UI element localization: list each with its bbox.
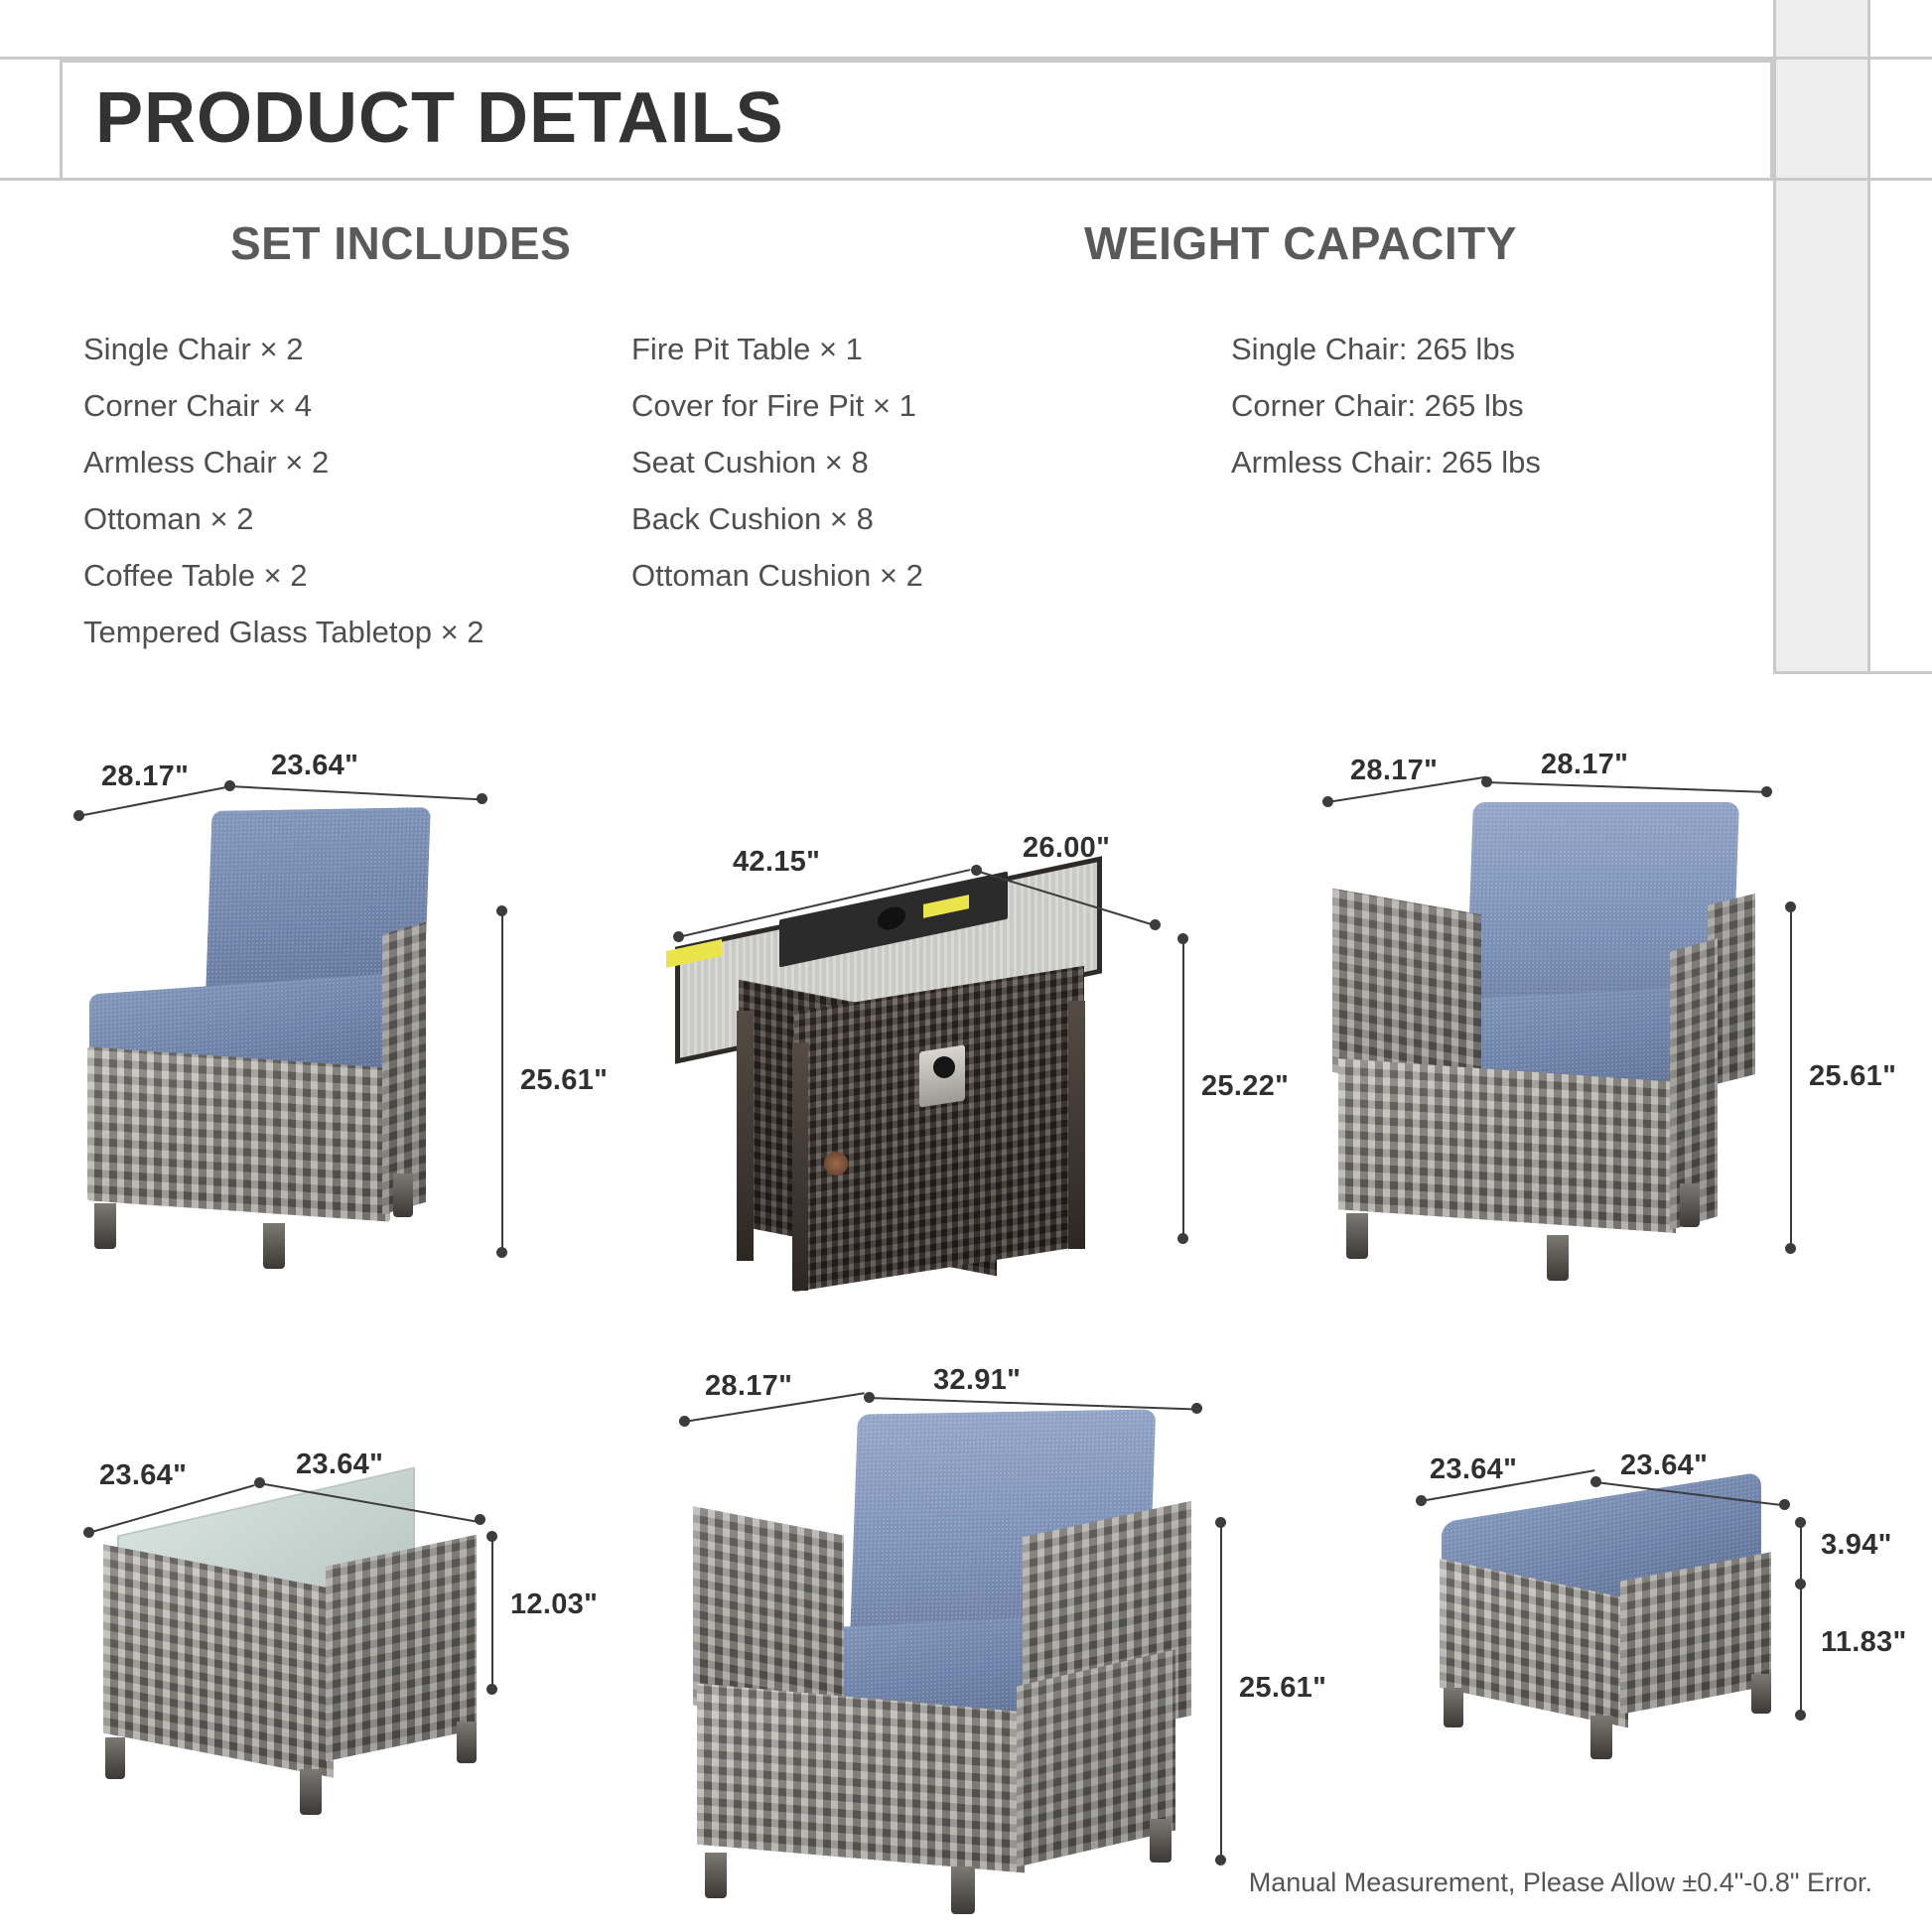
dim-line-cushion-height	[1800, 1523, 1802, 1583]
fire-pit-body-front	[794, 966, 1084, 1292]
coffee-table-leg	[300, 1769, 322, 1815]
list-item: Corner Chair × 4	[83, 388, 312, 424]
decor-rule-vertical-left	[1773, 0, 1776, 673]
list-item: Single Chair: 265 lbs	[1231, 332, 1515, 367]
ottoman-leg	[1751, 1674, 1771, 1714]
dim-line-width	[1486, 781, 1767, 793]
armless-chair-leg	[94, 1203, 116, 1249]
single-chair-leg	[705, 1853, 727, 1898]
dim-dot	[486, 1684, 497, 1695]
dim-label-width: 23.64"	[271, 750, 358, 782]
dim-label-height: 25.61"	[1809, 1060, 1896, 1093]
fire-pit-valve-knob-icon	[824, 1152, 848, 1175]
list-item: Single Chair × 2	[83, 332, 303, 367]
dim-line-base-height	[1800, 1587, 1802, 1714]
dim-label-depth: 23.64"	[99, 1459, 187, 1492]
list-item: Back Cushion × 8	[631, 501, 874, 537]
dim-label-height: 25.61"	[1239, 1672, 1326, 1705]
dim-line-height	[501, 911, 503, 1251]
dim-line-height	[1182, 939, 1184, 1237]
product-armless-chair: 28.17" 23.64" 25.61"	[60, 755, 616, 1311]
dim-label-base-height: 11.83"	[1821, 1626, 1907, 1659]
dim-line-width	[229, 785, 483, 800]
dim-dot	[1215, 1855, 1226, 1865]
dim-dot	[1761, 786, 1772, 797]
single-chair-base-front	[697, 1684, 1025, 1873]
dim-line-height	[491, 1537, 493, 1688]
list-item: Corner Chair: 265 lbs	[1231, 388, 1524, 424]
decor-gray-band	[1773, 0, 1870, 673]
corner-chair-base-front	[1338, 1058, 1676, 1233]
single-chair-leg	[1150, 1819, 1172, 1863]
product-coffee-table: 23.64" 23.64" 12.03"	[69, 1440, 625, 1876]
list-item: Ottoman Cushion × 2	[631, 558, 923, 594]
list-item: Coffee Table × 2	[83, 558, 308, 594]
coffee-table-leg	[457, 1722, 477, 1763]
dim-line-height	[1790, 907, 1792, 1247]
dim-label-depth: 23.64"	[1430, 1453, 1517, 1486]
dim-line-height	[1220, 1523, 1222, 1859]
dim-dot	[1177, 1233, 1188, 1244]
dim-label-height: 12.03"	[510, 1588, 598, 1621]
fire-pit-leg	[737, 1011, 754, 1261]
dim-dot	[1191, 1403, 1202, 1414]
dim-label-depth: 28.17"	[1350, 755, 1438, 787]
product-fire-pit-table: 42.15" 26.00" 25.22"	[625, 834, 1320, 1311]
product-single-chair: 28.17" 32.91" 25.61"	[665, 1370, 1320, 1926]
page-title: PRODUCT DETAILS	[95, 58, 784, 179]
list-item: Ottoman × 2	[83, 501, 253, 537]
dim-label-width: 28.17"	[1541, 749, 1628, 781]
coffee-table-leg	[105, 1737, 125, 1779]
list-item: Fire Pit Table × 1	[631, 332, 863, 367]
armless-chair-base-side	[382, 922, 426, 1215]
ottoman-leg	[1444, 1688, 1463, 1727]
dim-label-cushion-height: 3.94"	[1821, 1529, 1892, 1562]
dim-line-width	[869, 1397, 1196, 1411]
dim-label-depth: 26.00"	[1023, 832, 1110, 865]
measurement-disclaimer: Manual Measurement, Please Allow ±0.4"-0…	[1249, 1867, 1872, 1898]
dim-dot	[475, 1514, 485, 1525]
set-includes-heading: SET INCLUDES	[230, 216, 571, 270]
corner-chair-leg	[1547, 1235, 1569, 1281]
coffee-table-front	[326, 1535, 477, 1761]
ottoman-leg	[1590, 1716, 1612, 1759]
dim-label-width: 42.15"	[733, 846, 820, 879]
single-chair-leg	[951, 1866, 975, 1914]
dim-label-width: 23.64"	[1620, 1449, 1708, 1482]
product-corner-chair: 28.17" 28.17" 25.61"	[1311, 755, 1906, 1311]
decor-rule-vertical-right	[1867, 0, 1870, 673]
list-item: Armless Chair × 2	[83, 445, 329, 481]
dim-dot	[477, 793, 487, 804]
dim-label-height: 25.22"	[1201, 1070, 1289, 1103]
fire-pit-leg	[792, 1042, 808, 1291]
fire-pit-ignition-knob-icon	[933, 1056, 955, 1078]
dim-dot	[1779, 1499, 1790, 1510]
product-ottoman: 23.64" 23.64" 3.94" 11.83"	[1400, 1449, 1916, 1866]
dim-label-width: 32.91"	[933, 1364, 1021, 1397]
dim-label-depth: 28.17"	[705, 1370, 792, 1403]
armless-chair-leg	[263, 1223, 285, 1269]
list-item: Cover for Fire Pit × 1	[631, 388, 916, 424]
corner-chair-leg	[1680, 1183, 1700, 1227]
dim-dot	[496, 1247, 507, 1258]
corner-chair-leg	[1346, 1213, 1368, 1259]
list-item: Seat Cushion × 8	[631, 445, 869, 481]
dim-label-width: 23.64"	[296, 1449, 383, 1481]
armless-chair-leg	[393, 1173, 413, 1217]
dim-label-height: 25.61"	[520, 1064, 608, 1097]
decor-rule-band-bottom	[1773, 671, 1932, 674]
dim-label-depth: 28.17"	[101, 760, 189, 793]
fire-pit-leg	[1068, 1001, 1085, 1249]
dim-dot	[1785, 1243, 1796, 1254]
ottoman-base-front	[1620, 1552, 1771, 1715]
weight-capacity-heading: WEIGHT CAPACITY	[1084, 216, 1517, 270]
list-item: Armless Chair: 265 lbs	[1231, 445, 1541, 481]
list-item: Tempered Glass Tabletop × 2	[83, 615, 484, 650]
armless-chair-base-front	[87, 1046, 390, 1221]
dim-dot	[1150, 919, 1161, 930]
dim-dot	[1795, 1710, 1806, 1721]
